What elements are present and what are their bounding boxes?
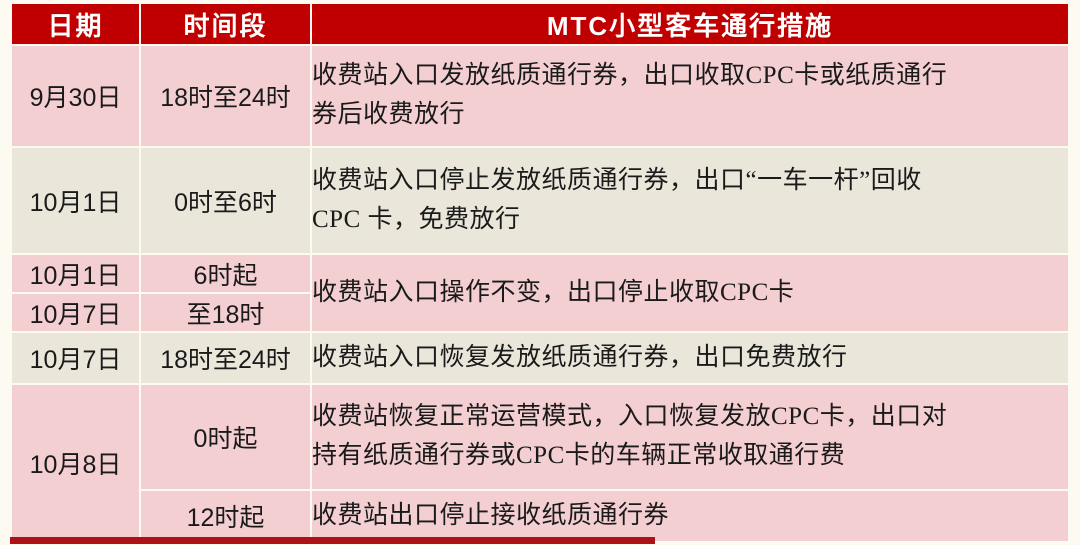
cell-time: 至18时	[141, 294, 310, 331]
measure-line: CPC 卡，免费放行	[312, 201, 1068, 240]
measure-line: 收费站入口停止发放纸质通行券，出口“一车一杆”回收	[312, 162, 1068, 201]
measure-line: 收费站入口恢复发放纸质通行券，出口免费放行	[312, 339, 1068, 378]
cell-measure: 收费站入口停止发放纸质通行券，出口“一车一杆”回收 CPC 卡，免费放行	[312, 148, 1068, 253]
cell-measure: 收费站入口发放纸质通行券，出口收取CPC卡或纸质通行 券后收费放行	[312, 46, 1068, 146]
table-body: 9月30日 18时至24时 收费站入口发放纸质通行券，出口收取CPC卡或纸质通行…	[12, 46, 1068, 541]
cell-time: 18时至24时	[141, 46, 310, 146]
measure-line: 收费站出口停止接收纸质通行券	[312, 497, 1068, 536]
cell-measure: 收费站恢复正常运营模式，入口恢复发放CPC卡，出口对 持有纸质通行券或CPC卡的…	[312, 385, 1068, 489]
cell-measure: 收费站入口恢复发放纸质通行券，出口免费放行	[312, 333, 1068, 383]
cell-date: 10月8日	[12, 385, 139, 541]
cell-time: 18时至24时	[141, 333, 310, 383]
cell-time: 12时起	[141, 491, 310, 541]
header-row: 日期 时间段 MTC小型客车通行措施	[12, 4, 1068, 44]
page-root: 日期 时间段 MTC小型客车通行措施 9月30日 18时至24时 收费站入口发放…	[0, 0, 1080, 545]
toll-measures-table-wrapper: 日期 时间段 MTC小型客车通行措施 9月30日 18时至24时 收费站入口发放…	[10, 2, 1070, 543]
cell-time: 6时起	[141, 255, 310, 292]
measure-line: 券后收费放行	[312, 96, 1068, 135]
table-header: 日期 时间段 MTC小型客车通行措施	[12, 4, 1068, 44]
cell-date: 10月7日	[12, 333, 139, 383]
cell-time: 0时至6时	[141, 148, 310, 253]
column-header-time: 时间段	[141, 4, 310, 44]
table-row: 10月1日 6时起 收费站入口操作不变，出口停止收取CPC卡	[12, 255, 1068, 292]
cell-date: 9月30日	[12, 46, 139, 146]
cell-measure: 收费站出口停止接收纸质通行券	[312, 491, 1068, 541]
cell-measure: 收费站入口操作不变，出口停止收取CPC卡	[312, 255, 1068, 331]
measure-line: 持有纸质通行券或CPC卡的车辆正常收取通行费	[312, 437, 1068, 476]
cell-date: 10月1日	[12, 148, 139, 253]
column-header-measure: MTC小型客车通行措施	[312, 4, 1068, 44]
bottom-accent-bar	[10, 537, 655, 544]
cell-date: 10月7日	[12, 294, 139, 331]
toll-measures-table: 日期 时间段 MTC小型客车通行措施 9月30日 18时至24时 收费站入口发放…	[10, 2, 1070, 543]
cell-date: 10月1日	[12, 255, 139, 292]
table-row: 9月30日 18时至24时 收费站入口发放纸质通行券，出口收取CPC卡或纸质通行…	[12, 46, 1068, 146]
measure-line: 收费站入口操作不变，出口停止收取CPC卡	[312, 274, 1068, 313]
measure-line: 收费站恢复正常运营模式，入口恢复发放CPC卡，出口对	[312, 398, 1068, 437]
table-row: 10月7日 18时至24时 收费站入口恢复发放纸质通行券，出口免费放行	[12, 333, 1068, 383]
table-row: 12时起 收费站出口停止接收纸质通行券	[12, 491, 1068, 541]
table-row: 10月1日 0时至6时 收费站入口停止发放纸质通行券，出口“一车一杆”回收 CP…	[12, 148, 1068, 253]
table-row: 10月8日 0时起 收费站恢复正常运营模式，入口恢复发放CPC卡，出口对 持有纸…	[12, 385, 1068, 489]
measure-line: 收费站入口发放纸质通行券，出口收取CPC卡或纸质通行	[312, 57, 1068, 96]
cell-time: 0时起	[141, 385, 310, 489]
column-header-date: 日期	[12, 4, 139, 44]
